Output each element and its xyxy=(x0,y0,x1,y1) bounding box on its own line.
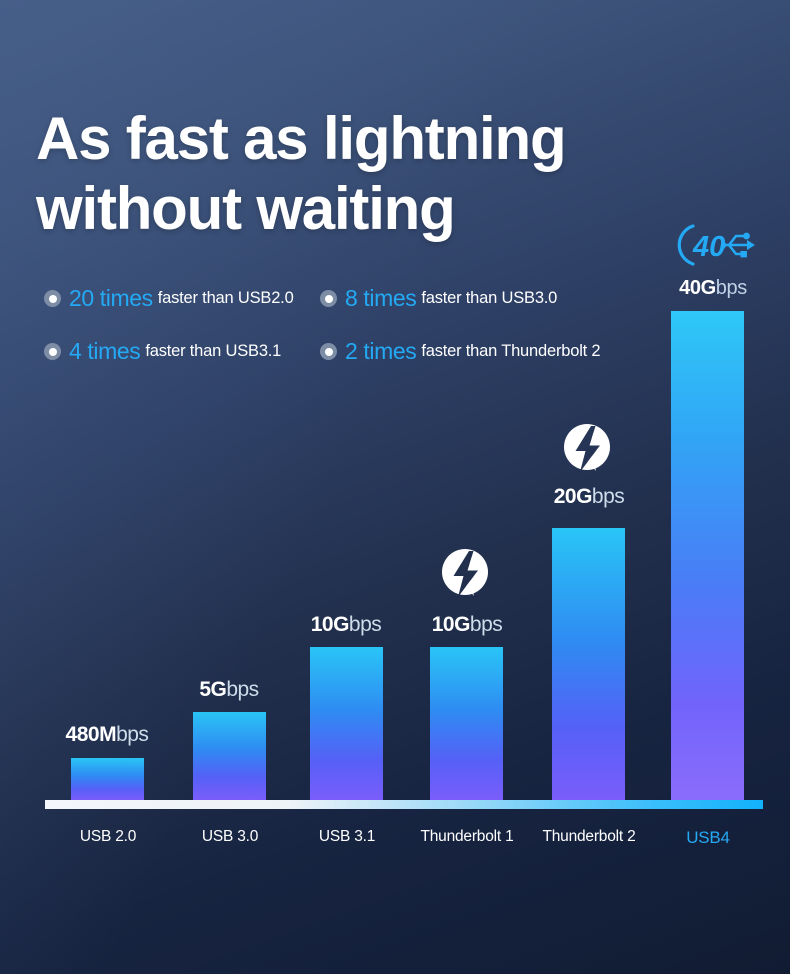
bar-usb4 xyxy=(671,311,744,800)
axis-label-thunderbolt-1: Thunderbolt 1 xyxy=(387,828,547,846)
bar-thunderbolt-2 xyxy=(552,528,625,800)
value-number: 480M xyxy=(66,723,117,746)
bar-value-label-usb-2-0: 480Mbps xyxy=(32,723,182,747)
axis-label-usb-2-0: USB 2.0 xyxy=(28,828,188,846)
bullet-multiplier: 4 times xyxy=(69,338,140,365)
value-unit: bps xyxy=(592,485,624,508)
bullet-row: 4 times faster than USB3.1 2 times faste… xyxy=(44,338,644,365)
bullet-multiplier: 8 times xyxy=(345,285,416,312)
bar-value-label-usb-3-1: 10Gbps xyxy=(271,613,421,637)
bullet-description: faster than Thunderbolt 2 xyxy=(421,342,600,361)
bullet-multiplier: 2 times xyxy=(345,338,416,365)
radio-dot-icon xyxy=(44,290,61,307)
bar-value-label-usb-3-0: 5Gbps xyxy=(154,678,304,702)
axis-label-usb4: USB4 xyxy=(628,828,788,848)
value-number: 10G xyxy=(311,613,349,636)
value-unit: bps xyxy=(226,678,258,701)
bar-value-label-thunderbolt-2: 20Gbps xyxy=(514,485,664,509)
axis-label-thunderbolt-2: Thunderbolt 2 xyxy=(509,828,669,846)
radio-dot-icon xyxy=(320,343,337,360)
bar-usb-2-0 xyxy=(71,758,144,800)
value-unit: bps xyxy=(116,723,148,746)
usb4-40-badge-icon: 40 40Gbps xyxy=(663,220,763,300)
axis-label-usb-3-1: USB 3.1 xyxy=(267,828,427,846)
bullet-description: faster than USB3.1 xyxy=(145,342,281,361)
page-title: As fast as lightning without waiting xyxy=(36,104,565,244)
feature-bullet-list: 20 times faster than USB2.0 8 times fast… xyxy=(44,285,644,391)
usb4-trident-svg: 40 xyxy=(663,220,763,270)
bullet-description: faster than USB2.0 xyxy=(158,289,294,308)
usb4-speed-label: 40Gbps xyxy=(663,277,763,300)
speed-value: 40G xyxy=(679,277,716,299)
thunderbolt-icon-tb1 xyxy=(438,545,496,608)
bar-value-label-thunderbolt-1: 10Gbps xyxy=(392,613,542,637)
bar-usb-3-1 xyxy=(310,647,383,800)
bullet-item-0: 20 times faster than USB2.0 xyxy=(44,285,320,312)
value-number: 5G xyxy=(199,678,226,701)
thunderbolt-icon-tb2 xyxy=(560,420,618,483)
radio-dot-icon xyxy=(44,343,61,360)
axis-label-usb-3-0: USB 3.0 xyxy=(150,828,310,846)
radio-dot-icon xyxy=(320,290,337,307)
badge-number: 40 xyxy=(692,231,725,263)
bullet-item-2: 4 times faster than USB3.1 xyxy=(44,338,320,365)
value-unit: bps xyxy=(470,613,502,636)
value-number: 20G xyxy=(554,485,592,508)
chart-baseline-axis xyxy=(45,800,763,809)
value-number: 10G xyxy=(432,613,470,636)
bar-usb-3-0 xyxy=(193,712,266,800)
bullet-item-1: 8 times faster than USB3.0 xyxy=(320,285,557,312)
bar-thunderbolt-1 xyxy=(430,647,503,800)
speed-unit: bps xyxy=(716,277,747,299)
value-unit: bps xyxy=(349,613,381,636)
bullet-multiplier: 20 times xyxy=(69,285,153,312)
bullet-row: 20 times faster than USB2.0 8 times fast… xyxy=(44,285,644,312)
bullet-item-3: 2 times faster than Thunderbolt 2 xyxy=(320,338,600,365)
bullet-description: faster than USB3.0 xyxy=(421,289,557,308)
